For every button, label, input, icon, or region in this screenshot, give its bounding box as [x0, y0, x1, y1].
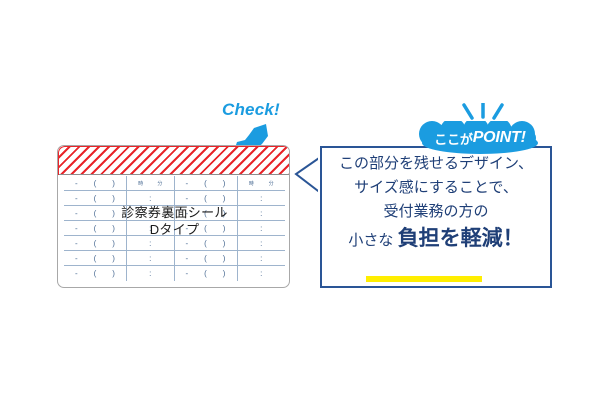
date-paren-close: )	[112, 269, 115, 278]
time-cell-header: 時 分	[237, 176, 286, 190]
date-paren-close: )	[112, 239, 115, 248]
date-dash: -	[75, 179, 78, 188]
card-caption: 診察券裏面シール Dタイプ	[58, 204, 290, 238]
table-row: - ( ) : - ( ) :	[64, 266, 285, 281]
time-cell: :	[237, 251, 286, 265]
date-paren-close: )	[223, 194, 226, 203]
hour-label: 時	[138, 180, 143, 187]
date-cell: - ( )	[175, 254, 237, 263]
table-row: - ( ) 時 分 - ( ) 時	[64, 176, 285, 191]
table-cell-group-right: - ( ) :	[175, 251, 286, 265]
date-cell: - ( )	[64, 194, 126, 203]
yellow-highlight-underline	[366, 276, 482, 282]
point-badge: ここがPOINT!	[418, 103, 542, 155]
badge-label-kana: ここが	[434, 129, 472, 148]
table-cell-group-left: - ( ) :	[64, 236, 175, 250]
date-paren-open: (	[204, 179, 207, 188]
callout-text-block: この部分を残せるデザイン、 サイズ感にすることで、 受付業務の方の 小さな 負担…	[320, 152, 552, 253]
table-cell-group-right: - ( ) :	[175, 266, 286, 281]
time-cell: :	[237, 236, 286, 250]
date-dash: -	[75, 239, 78, 248]
date-paren-open: (	[204, 269, 207, 278]
callout-line-4-emphasis: 負担を軽減！	[398, 226, 524, 252]
table-cell-group-left: - ( ) :	[64, 251, 175, 265]
card-caption-line-2: Dタイプ	[58, 221, 290, 238]
date-cell: - ( )	[64, 239, 126, 248]
date-cell: - ( )	[64, 254, 126, 263]
time-cell-header: 時 分	[126, 176, 174, 190]
callout-line-4: 小さな 負担を軽減！	[320, 226, 552, 253]
time-cell: :	[126, 236, 174, 250]
date-dash: -	[75, 269, 78, 278]
date-dash: -	[185, 254, 188, 263]
date-dash: -	[185, 179, 188, 188]
time-cell: :	[126, 266, 174, 281]
date-paren-open: (	[94, 239, 97, 248]
table-cell-group-left: - ( ) 時 分	[64, 176, 175, 190]
minute-label: 分	[269, 180, 274, 187]
date-paren-close: )	[112, 179, 115, 188]
date-paren-close: )	[223, 239, 226, 248]
date-cell: - ( )	[175, 269, 237, 278]
table-cell-group-right: - ( ) 時 分	[175, 176, 286, 190]
date-paren-close: )	[112, 194, 115, 203]
table-row: - ( ) : - ( ) :	[64, 236, 285, 251]
date-paren-open: (	[94, 269, 97, 278]
card-caption-line-1: 診察券裏面シール	[58, 204, 290, 221]
time-cell: :	[126, 191, 174, 205]
minute-label: 分	[157, 180, 162, 187]
date-dash: -	[185, 239, 188, 248]
date-paren-open: (	[204, 194, 207, 203]
table-cell-group-left: - ( ) :	[64, 191, 175, 205]
table-cell-group-right: - ( ) :	[175, 191, 286, 205]
callout-line-4-prefix: 小さな	[348, 232, 397, 249]
date-cell: - ( )	[175, 194, 237, 203]
illustration-canvas: Check! - ( ) 時 分	[0, 0, 600, 400]
date-paren-open: (	[204, 254, 207, 263]
red-diagonal-hatch-area	[58, 146, 290, 175]
date-dash: -	[75, 194, 78, 203]
sparkle-lines-icon	[460, 103, 506, 121]
date-cell: - ( )	[64, 269, 126, 278]
date-cell: - ( )	[64, 179, 126, 188]
appointment-card: - ( ) 時 分 - ( ) 時	[57, 145, 290, 288]
hour-label: 時	[249, 180, 254, 187]
date-paren-close: )	[112, 254, 115, 263]
date-paren-open: (	[204, 239, 207, 248]
badge-label: ここがPOINT!	[418, 121, 542, 155]
date-paren-open: (	[94, 179, 97, 188]
time-cell: :	[237, 266, 286, 281]
callout-line-2: サイズ感にすることで、	[320, 176, 552, 200]
date-cell: - ( )	[175, 239, 237, 248]
date-cell: - ( )	[175, 179, 237, 188]
table-cell-group-left: - ( ) :	[64, 266, 175, 281]
time-cell: :	[126, 251, 174, 265]
date-dash: -	[185, 269, 188, 278]
date-paren-open: (	[94, 194, 97, 203]
date-paren-close: )	[223, 254, 226, 263]
table-cell-group-right: - ( ) :	[175, 236, 286, 250]
date-paren-close: )	[223, 269, 226, 278]
time-cell: :	[237, 191, 286, 205]
callout-line-1: この部分を残せるデザイン、	[320, 152, 552, 176]
callout-pointer-tail	[290, 154, 322, 196]
check-label: Check!	[222, 100, 280, 120]
table-row: - ( ) : - ( ) :	[64, 251, 285, 266]
date-paren-close: )	[223, 179, 226, 188]
date-paren-open: (	[94, 254, 97, 263]
date-dash: -	[185, 194, 188, 203]
badge-label-point: POINT!	[473, 129, 526, 147]
callout-line-3: 受付業務の方の	[320, 200, 552, 224]
date-dash: -	[75, 254, 78, 263]
